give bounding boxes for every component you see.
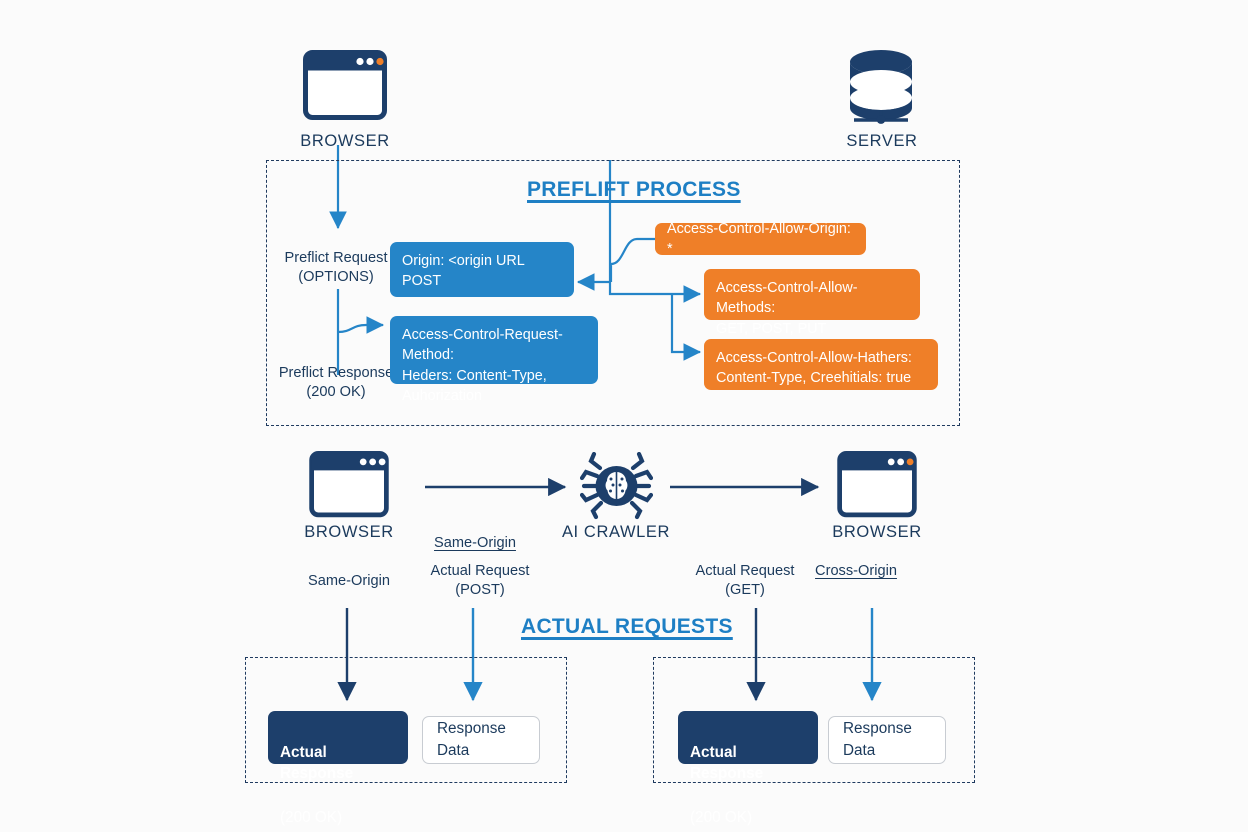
label-actual-request-post-line1: Actual Request [431,563,530,579]
label-cross-origin-link: Cross-Origin [794,562,918,581]
ai-spider-crawler-icon [580,452,653,520]
preflight-request-label-line1: Preflict Request [284,250,387,266]
browser-window-icon [303,50,387,124]
label-actual-request-post-line2: (POST) [455,582,504,598]
actual-response-box-right: Actual Response (200 OK) [678,711,818,764]
preflight-request-label: Preflict Request (OPTIONS) [268,249,404,288]
top-server-label: SERVER [820,132,944,151]
actual-response-box-right-line1: Actual Response [690,744,763,783]
allow-origin-box: Access-Control-Allow-Origin: * [655,223,866,255]
middle-browser-right-label: BROWSER [815,523,939,542]
response-data-box-right: Response Data [828,716,946,764]
preflight-process-title: PREFLIFT PROCESS [527,178,741,202]
top-browser-label: BROWSER [283,132,407,151]
browser-window-icon-middle-left [308,451,390,521]
allow-headers-box: Access-Control-Allow-Hathers: Content-Ty… [704,339,938,390]
preflight-request-headers-box: Access-Control-Request-Method: Heders: C… [390,316,598,384]
preflight-origin-box: Origin: <origin URL POST [390,242,574,297]
actual-requests-title: ACTUAL REQUESTS [521,615,733,639]
label-cross-origin-link-text: Cross-Origin [815,563,897,579]
preflight-response-label: Preflict Response (200 OK) [266,364,406,403]
middle-browser-left-label: BROWSER [287,523,411,542]
actual-response-box-left-line1: Actual Response [280,744,353,783]
label-same-origin-link: Same-Origin [413,534,537,553]
label-actual-request-get-line1: Actual Request [696,563,795,579]
actual-response-box-left-line2: (200 OK) [280,809,342,826]
actual-response-box-right-line2: (200 OK) [690,809,752,826]
response-data-box-left: Response Data [422,716,540,764]
actual-response-box-left: Actual Response (200 OK) [268,711,408,764]
allow-methods-box: Access-Control-Allow-Methods: GET, POST,… [704,269,920,320]
label-actual-request-post: Actual Request (POST) [413,562,547,601]
label-same-origin-link-text: Same-Origin [434,535,516,551]
preflight-response-label-line2: (200 OK) [306,384,365,400]
browser-window-icon-middle-right [836,451,918,521]
preflight-response-label-line1: Preflict Response [279,365,393,381]
label-actual-request-get: Actual Request (GET) [678,562,812,601]
cors-diagram-canvas: BROWSER SERVER PREFLIFT PROCESS Preflict… [0,0,1248,832]
database-server-icon [846,48,916,128]
label-actual-request-get-line2: (GET) [725,582,765,598]
preflight-request-label-line2: (OPTIONS) [298,269,373,285]
middle-crawler-label: AI CRAWLER [554,523,678,542]
label-same-origin-under-browser: Same-Origin [287,572,411,591]
